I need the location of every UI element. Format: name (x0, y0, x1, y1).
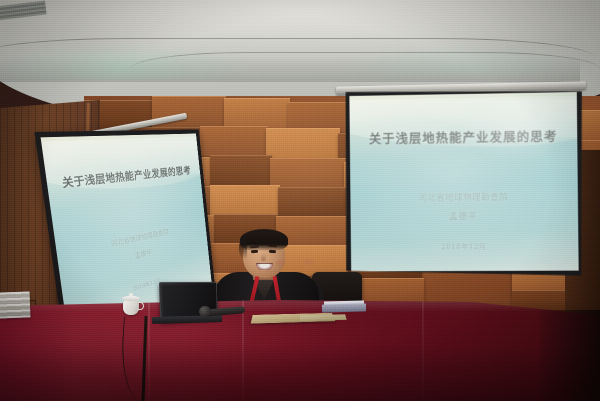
right-projection-screen: 关于浅层地热能产业发展的思考 河北省地球物理勘查院 孟德平 2018年12月 (344, 88, 583, 276)
wall-panel-brick (266, 128, 340, 159)
microphone-head (199, 306, 211, 317)
eye (269, 249, 276, 252)
wall-panel-brick (210, 155, 272, 186)
photograph-conference-presentation: 关于浅层地热能产业发展的思考 河北省地球物理勘查院 孟德平 2018年12月 关… (0, 0, 600, 401)
teacup-lid-knob (129, 293, 133, 297)
wall-panel-brick (278, 187, 350, 218)
wall-panel-brick (270, 158, 346, 189)
slide-title: 关于浅层地热能产业发展的思考 (350, 125, 578, 147)
cloth-fold (242, 300, 244, 401)
cheek (276, 260, 286, 266)
slide-date: 2018年12月 (351, 241, 579, 252)
boxes-stack (0, 291, 30, 318)
mouth-smiling (256, 263, 273, 270)
slide-author: 孟德平 (351, 209, 579, 223)
wall-panel-brick (200, 126, 268, 156)
wall-panel-brick (210, 185, 280, 216)
slide-surface: 关于浅层地热能产业发展的思考 河北省地球物理勘查院 孟德平 2018年12月 (349, 92, 578, 271)
hair-sideburn (239, 239, 247, 259)
ceiling-shadow-band (0, 56, 580, 82)
cheek (304, 259, 314, 265)
wall-panel-brick (224, 98, 290, 129)
cloth-fold (422, 300, 424, 401)
hair (240, 229, 288, 251)
table-right-shadow (540, 310, 600, 401)
papers-secondary (300, 314, 347, 320)
slide-organization: 河北省地球物理勘查院 (350, 190, 578, 204)
teacup-handle (137, 302, 144, 310)
booklet (322, 303, 366, 312)
nose (261, 253, 266, 261)
